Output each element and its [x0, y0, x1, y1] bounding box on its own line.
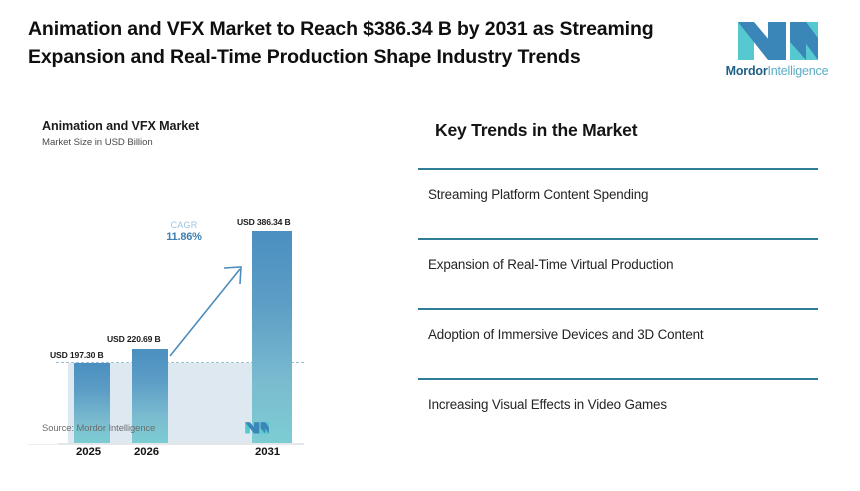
bar-value-2026: USD 220.69 B [107, 334, 161, 344]
list-item[interactable]: Increasing Visual Effects in Video Games [418, 378, 818, 448]
x-axis-tick-labels: 2025 2026 2031 [42, 446, 300, 464]
key-trends-list: Streaming Platform Content Spending Expa… [418, 168, 818, 448]
key-trends-title: Key Trends in the Market [435, 120, 637, 141]
chart-subtitle: Market Size in USD Billion [42, 137, 153, 148]
brand-wordmark-light: Intelligence [768, 64, 829, 78]
x-tick-2026: 2026 [134, 446, 159, 458]
bar-value-2031: USD 386.34 B [237, 217, 291, 227]
bar-value-2025: USD 197.30 B [50, 350, 104, 360]
trend-label: Adoption of Immersive Devices and 3D Con… [428, 327, 704, 342]
trend-label: Increasing Visual Effects in Video Games [428, 397, 667, 412]
page-header: Animation and VFX Market to Reach $386.3… [0, 0, 860, 96]
list-item[interactable]: Adoption of Immersive Devices and 3D Con… [418, 308, 818, 378]
x-axis-line [58, 443, 304, 445]
mordor-m-icon-small [244, 420, 270, 434]
brand-wordmark: MordorIntelligence [716, 64, 838, 78]
page-title: Animation and VFX Market to Reach $386.3… [28, 16, 700, 71]
trend-label: Expansion of Real-Time Virtual Productio… [428, 257, 673, 272]
mordor-m-icon [734, 16, 822, 60]
chart-source-row: Source: Mordor Intelligence [42, 420, 300, 440]
cagr-annotation: CAGR 11.86% [157, 220, 211, 244]
chart-plot-area: USD 197.30 B USD 220.69 B USD 386.34 B C… [42, 166, 300, 401]
key-trends-panel: Key Trends in the Market Streaming Platf… [418, 112, 818, 432]
x-tick-2031: 2031 [255, 446, 280, 458]
cagr-value: 11.86% [157, 231, 211, 244]
cagr-tag: CAGR [157, 220, 211, 231]
x-tick-2025: 2025 [76, 446, 101, 458]
brand-logo: MordorIntelligence [716, 14, 838, 86]
list-item[interactable]: Streaming Platform Content Spending [418, 168, 818, 238]
market-size-chart-card: Animation and VFX Market Market Size in … [28, 106, 300, 445]
trend-label: Streaming Platform Content Spending [428, 187, 648, 202]
bars-container [42, 230, 300, 444]
brand-wordmark-bold: Mordor [726, 64, 768, 78]
chart-source-label: Source: Mordor Intelligence [42, 422, 155, 433]
list-item[interactable]: Expansion of Real-Time Virtual Productio… [418, 238, 818, 308]
chart-title: Animation and VFX Market [42, 119, 199, 133]
bar-2031[interactable] [252, 231, 292, 444]
